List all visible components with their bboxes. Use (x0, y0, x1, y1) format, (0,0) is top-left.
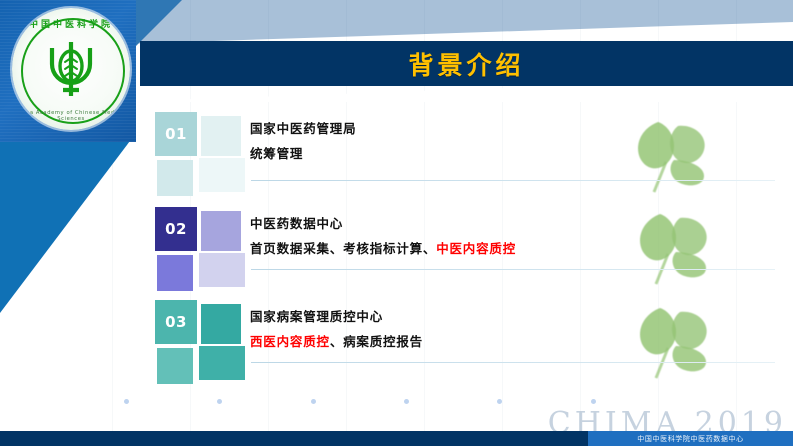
block-01-tile-secondary (201, 116, 241, 156)
block-02-tile-tertiary (157, 255, 193, 291)
content-block-01: 01 国家中医药管理局 统筹管理 (155, 112, 775, 194)
block-02-rule (251, 269, 775, 270)
block-02-tile-secondary (201, 211, 241, 251)
emblem-chinese-text: 中国中医科学院 (12, 17, 130, 30)
block-02-line2-plain: 首页数据采集、考核指标计算、 (250, 241, 436, 256)
footer-bar: 中国中医科学院中医药数据中心 (0, 431, 793, 446)
block-01-line1: 国家中医药管理局 (250, 116, 775, 141)
block-01-line2: 统筹管理 (250, 141, 775, 166)
emblem-english-text: China Academy of Chinese Medical Science… (12, 110, 130, 122)
block-03-rule (251, 362, 775, 363)
block-03-line2-tail: 、病案质控报告 (330, 334, 423, 349)
block-01-number: 01 (155, 112, 197, 156)
block-03-line1: 国家病案管理质控中心 (250, 304, 775, 329)
block-03-tile-secondary (201, 304, 241, 344)
footer-organization-tab: 中国中医科学院中医药数据中心 (588, 431, 793, 446)
decorative-dot (311, 399, 316, 404)
block-03-tile-tertiary (157, 348, 193, 384)
presentation-slide: 中国中医科学院 China Academy of Chinese Medical… (0, 0, 793, 446)
block-02-tile-quaternary (199, 253, 245, 287)
institution-logo: 中国中医科学院 China Academy of Chinese Medical… (12, 8, 130, 130)
block-01-tile-quaternary (199, 158, 245, 192)
block-03-text: 国家病案管理质控中心 西医内容质控、病案质控报告 (250, 304, 775, 354)
block-01-line2-plain: 统筹管理 (250, 146, 303, 161)
block-01-rule (251, 180, 775, 181)
content-block-03: 03 国家病案管理质控中心 西医内容质控、病案质控报告 (155, 300, 775, 382)
decorative-dot (497, 399, 502, 404)
block-01-text: 国家中医药管理局 统筹管理 (250, 116, 775, 166)
block-02-line1: 中医药数据中心 (250, 211, 775, 236)
block-03-line2: 西医内容质控、病案质控报告 (250, 329, 775, 354)
decorative-dot (124, 399, 129, 404)
block-02-text: 中医药数据中心 首页数据采集、考核指标计算、中医内容质控 (250, 211, 775, 261)
block-01-tile-tertiary (157, 160, 193, 196)
block-02-line2: 首页数据采集、考核指标计算、中医内容质控 (250, 236, 775, 261)
footer-organization-text: 中国中医科学院中医药数据中心 (637, 434, 743, 444)
decorative-dot (404, 399, 409, 404)
block-02-number: 02 (155, 207, 197, 251)
content-block-02: 02 中医药数据中心 首页数据采集、考核指标计算、中医内容质控 (155, 207, 775, 289)
decorative-dot-row (110, 399, 670, 405)
page-title: 背景介绍 (140, 41, 793, 86)
block-02-tiles: 02 (155, 207, 250, 289)
block-03-tile-quaternary (199, 346, 245, 380)
block-01-tiles: 01 (155, 112, 250, 194)
block-03-number: 03 (155, 300, 197, 344)
block-02-line2-highlight: 中医内容质控 (436, 241, 516, 256)
decorative-dot (217, 399, 222, 404)
block-03-tiles: 03 (155, 300, 250, 382)
decorative-dot (591, 399, 596, 404)
block-03-line2-highlight: 西医内容质控 (250, 334, 330, 349)
emblem-mark-icon (39, 38, 103, 100)
